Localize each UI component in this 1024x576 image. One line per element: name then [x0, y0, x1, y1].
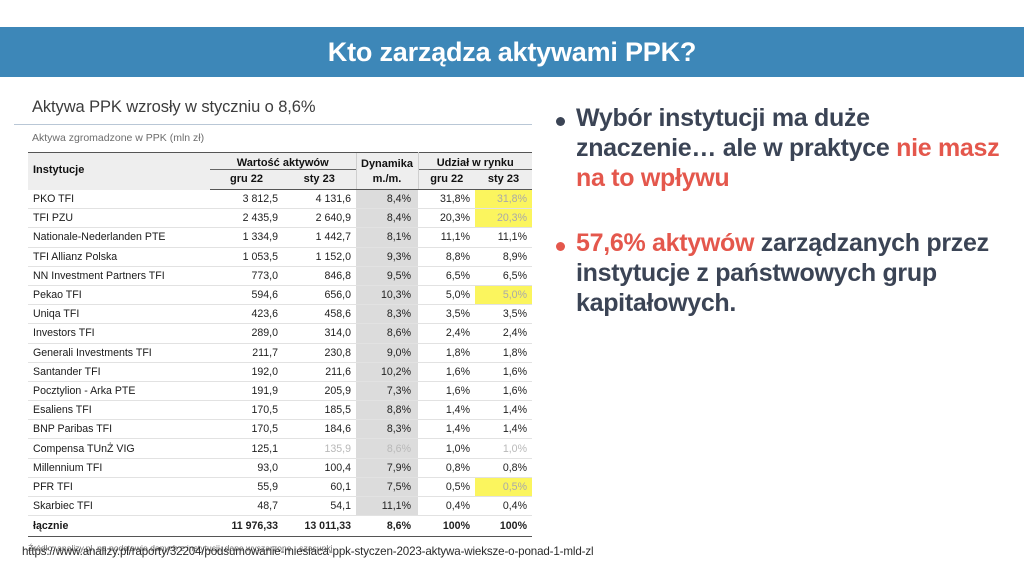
header-group-row: Instytucje Wartość aktywów Dynamika Udzi…	[28, 153, 532, 172]
table-header: Instytucje Wartość aktywów Dynamika Udzi…	[28, 153, 532, 190]
cell-dec: 3 812,5	[210, 190, 283, 209]
cell-dyn: 9,5%	[356, 266, 418, 285]
cell-institution: Pekao TFI	[28, 285, 210, 304]
cell-dyn: 8,6%	[356, 439, 418, 458]
cell-share-jan: 0,5%	[475, 477, 532, 496]
table-row: PKO TFI3 812,54 131,68,4%31,8%31,8%	[28, 190, 532, 209]
table-row: BNP Paribas TFI170,5184,68,3%1,4%1,4%	[28, 420, 532, 439]
cell-institution: Uniqa TFI	[28, 305, 210, 324]
cell-jan: 1 442,7	[283, 228, 356, 247]
table-row: Skarbiec TFI48,754,111,1%0,4%0,4%	[28, 497, 532, 516]
cell-institution: TFI Allianz Polska	[28, 247, 210, 266]
cell-share-dec: 0,4%	[418, 497, 475, 516]
table-total-row: łącznie11 976,3313 011,338,6%100%100%	[28, 516, 532, 537]
cell-jan: 230,8	[283, 343, 356, 362]
table-row: TFI PZU2 435,92 640,98,4%20,3%20,3%	[28, 209, 532, 228]
cell-dyn: 9,0%	[356, 343, 418, 362]
cell-share-jan: 1,4%	[475, 420, 532, 439]
cell-share-jan: 5,0%	[475, 285, 532, 304]
cell-share-dec: 1,8%	[418, 343, 475, 362]
table-row: Millennium TFI93,0100,47,9%0,8%0,8%	[28, 458, 532, 477]
cell-institution: BNP Paribas TFI	[28, 420, 210, 439]
cell-institution: Generali Investments TFI	[28, 343, 210, 362]
cell-institution: NN Investment Partners TFI	[28, 266, 210, 285]
title-banner: Kto zarządza aktywami PPK?	[0, 27, 1024, 77]
cell-dec: 170,5	[210, 420, 283, 439]
cell-dyn: 8,1%	[356, 228, 418, 247]
cell-jan: 656,0	[283, 285, 356, 304]
cell-institution: PFR TFI	[28, 477, 210, 496]
cell-share-jan: 0,8%	[475, 458, 532, 477]
cell-dec: 192,0	[210, 362, 283, 381]
table-row: PFR TFI55,960,17,5%0,5%0,5%	[28, 477, 532, 496]
cell-dec: 191,9	[210, 381, 283, 400]
cell-share-dec: 1,6%	[418, 362, 475, 381]
cell-institution: Santander TFI	[28, 362, 210, 381]
cell-share-dec: 1,6%	[418, 381, 475, 400]
cell-jan: 54,1	[283, 497, 356, 516]
cell-share-jan: 1,8%	[475, 343, 532, 362]
table-row: NN Investment Partners TFI773,0846,89,5%…	[28, 266, 532, 285]
cell-dyn: 7,5%	[356, 477, 418, 496]
cell-jan: 184,6	[283, 420, 356, 439]
cell-institution: PKO TFI	[28, 190, 210, 209]
ppk-assets-card: Aktywa PPK wzrosły w styczniu o 8,6% Akt…	[14, 92, 532, 530]
cell-share-jan: 3,5%	[475, 305, 532, 324]
ppk-assets-table: Instytucje Wartość aktywów Dynamika Udzi…	[28, 152, 532, 537]
cell-institution: Millennium TFI	[28, 458, 210, 477]
cell-jan: 314,0	[283, 324, 356, 343]
cell-share-dec: 2,4%	[418, 324, 475, 343]
cell-jan: 2 640,9	[283, 209, 356, 228]
cell-dyn: 8,6%	[356, 324, 418, 343]
cell-dec: 594,6	[210, 285, 283, 304]
cell-dyn: 8,3%	[356, 305, 418, 324]
cell-dec: 48,7	[210, 497, 283, 516]
bullet-text: 57,6% aktywów zarządzanych przez instytu…	[576, 229, 1012, 318]
bullet-item: Wybór instytucji ma duże znaczenie… ale …	[556, 104, 1012, 193]
table-body: PKO TFI3 812,54 131,68,4%31,8%31,8%TFI P…	[28, 190, 532, 537]
cell-share-dec: 1,4%	[418, 401, 475, 420]
cell-jan: 458,6	[283, 305, 356, 324]
card-title: Aktywa PPK wzrosły w styczniu o 8,6%	[14, 92, 532, 125]
cell-dec: 93,0	[210, 458, 283, 477]
cell-institution: Pocztylion - Arka PTE	[28, 381, 210, 400]
cell-share-jan: 8,9%	[475, 247, 532, 266]
cell-share-dec: 3,5%	[418, 305, 475, 324]
source-url: https://www.analizy.pl/raporty/32204/pod…	[22, 545, 593, 558]
col-header-assets-dec: gru 22	[210, 172, 283, 190]
cell-share-jan: 11,1%	[475, 228, 532, 247]
bullet-text-emphasis: 57,6% aktywów	[576, 229, 761, 257]
cell-jan: 205,9	[283, 381, 356, 400]
cell-share-jan: 0,4%	[475, 497, 532, 516]
table-row: Compensa TUnŻ VIG125,1135,98,6%1,0%1,0%	[28, 439, 532, 458]
cell-share-jan: 20,3%	[475, 209, 532, 228]
col-group-assets: Wartość aktywów	[210, 153, 356, 172]
col-group-dynamics-label: Dynamika	[357, 158, 418, 170]
cell-dec: 1 053,5	[210, 247, 283, 266]
cell-jan: 846,8	[283, 266, 356, 285]
cell-dyn: 7,9%	[356, 458, 418, 477]
col-group-share-label: Udział w rynku	[419, 157, 533, 170]
cell-dyn: 8,8%	[356, 401, 418, 420]
cell-institution: TFI PZU	[28, 209, 210, 228]
col-group-dynamics: Dynamika	[356, 153, 418, 172]
cell-dec: 773,0	[210, 266, 283, 285]
cell-dec: 211,7	[210, 343, 283, 362]
table-row: Nationale-Nederlanden PTE1 334,91 442,78…	[28, 228, 532, 247]
col-header-institutions: Instytucje	[28, 153, 210, 190]
cell-institution: Compensa TUnŻ VIG	[28, 439, 210, 458]
bullet-item: 57,6% aktywów zarządzanych przez instytu…	[556, 229, 1012, 318]
cell-total-dec: 11 976,33	[210, 516, 283, 537]
cell-share-dec: 0,8%	[418, 458, 475, 477]
cell-share-dec: 8,8%	[418, 247, 475, 266]
cell-institution: Nationale-Nederlanden PTE	[28, 228, 210, 247]
table-row: Esaliens TFI170,5185,58,8%1,4%1,4%	[28, 401, 532, 420]
cell-dyn: 11,1%	[356, 497, 418, 516]
cell-share-jan: 1,4%	[475, 401, 532, 420]
bullet-text: Wybór instytucji ma duże znaczenie… ale …	[576, 104, 1012, 193]
cell-dyn: 9,3%	[356, 247, 418, 266]
cell-total-share-dec: 100%	[418, 516, 475, 537]
cell-share-dec: 20,3%	[418, 209, 475, 228]
cell-dec: 55,9	[210, 477, 283, 496]
cell-total-institution: łącznie	[28, 516, 210, 537]
cell-dec: 423,6	[210, 305, 283, 324]
cell-jan: 60,1	[283, 477, 356, 496]
cell-dyn: 10,3%	[356, 285, 418, 304]
table-row: Generali Investments TFI211,7230,89,0%1,…	[28, 343, 532, 362]
slide-root: Kto zarządza aktywami PPK? Aktywa PPK wz…	[0, 0, 1024, 576]
cell-total-share-jan: 100%	[475, 516, 532, 537]
cell-share-jan: 31,8%	[475, 190, 532, 209]
col-header-dynamics-mm: m./m.	[356, 172, 418, 190]
table-row: Investors TFI289,0314,08,6%2,4%2,4%	[28, 324, 532, 343]
col-header-share-jan: sty 23	[475, 172, 532, 190]
cell-total-dyn: 8,6%	[356, 516, 418, 537]
cell-share-dec: 5,0%	[418, 285, 475, 304]
cell-share-jan: 1,6%	[475, 381, 532, 400]
cell-dyn: 8,3%	[356, 420, 418, 439]
cell-dyn: 7,3%	[356, 381, 418, 400]
bullet-dot-icon	[556, 242, 565, 251]
table-row: Pekao TFI594,6656,010,3%5,0%5,0%	[28, 285, 532, 304]
page-title: Kto zarządza aktywami PPK?	[328, 37, 696, 68]
col-group-share: Udział w rynku	[418, 153, 532, 172]
table-row: Uniqa TFI423,6458,68,3%3,5%3,5%	[28, 305, 532, 324]
cell-jan: 4 131,6	[283, 190, 356, 209]
cell-share-jan: 1,6%	[475, 362, 532, 381]
cell-dyn: 10,2%	[356, 362, 418, 381]
col-header-share-dec: gru 22	[418, 172, 475, 190]
cell-jan: 1 152,0	[283, 247, 356, 266]
cell-dec: 125,1	[210, 439, 283, 458]
cell-institution: Esaliens TFI	[28, 401, 210, 420]
cell-institution: Investors TFI	[28, 324, 210, 343]
cell-jan: 185,5	[283, 401, 356, 420]
cell-share-dec: 1,0%	[418, 439, 475, 458]
cell-dec: 2 435,9	[210, 209, 283, 228]
cell-jan: 135,9	[283, 439, 356, 458]
cell-institution: Skarbiec TFI	[28, 497, 210, 516]
table-row: Pocztylion - Arka PTE191,9205,97,3%1,6%1…	[28, 381, 532, 400]
cell-share-jan: 1,0%	[475, 439, 532, 458]
cell-dec: 170,5	[210, 401, 283, 420]
col-header-assets-jan: sty 23	[283, 172, 356, 190]
cell-jan: 211,6	[283, 362, 356, 381]
col-group-assets-label: Wartość aktywów	[210, 157, 356, 170]
card-subtitle: Aktywa zgromadzone w PPK (mln zł)	[14, 125, 532, 152]
cell-dec: 1 334,9	[210, 228, 283, 247]
table-row: Santander TFI192,0211,610,2%1,6%1,6%	[28, 362, 532, 381]
cell-dyn: 8,4%	[356, 190, 418, 209]
cell-share-dec: 6,5%	[418, 266, 475, 285]
cell-share-dec: 1,4%	[418, 420, 475, 439]
cell-share-dec: 11,1%	[418, 228, 475, 247]
cell-jan: 100,4	[283, 458, 356, 477]
cell-dec: 289,0	[210, 324, 283, 343]
table-row: TFI Allianz Polska1 053,51 152,09,3%8,8%…	[28, 247, 532, 266]
bullet-text-plain: Wybór instytucji ma duże znaczenie… ale …	[576, 104, 896, 162]
cell-share-jan: 6,5%	[475, 266, 532, 285]
cell-total-jan: 13 011,33	[283, 516, 356, 537]
cell-share-dec: 0,5%	[418, 477, 475, 496]
cell-share-dec: 31,8%	[418, 190, 475, 209]
cell-share-jan: 2,4%	[475, 324, 532, 343]
bullet-dot-icon	[556, 117, 565, 126]
bullet-list: Wybór instytucji ma duże znaczenie… ale …	[556, 104, 1012, 349]
cell-dyn: 8,4%	[356, 209, 418, 228]
